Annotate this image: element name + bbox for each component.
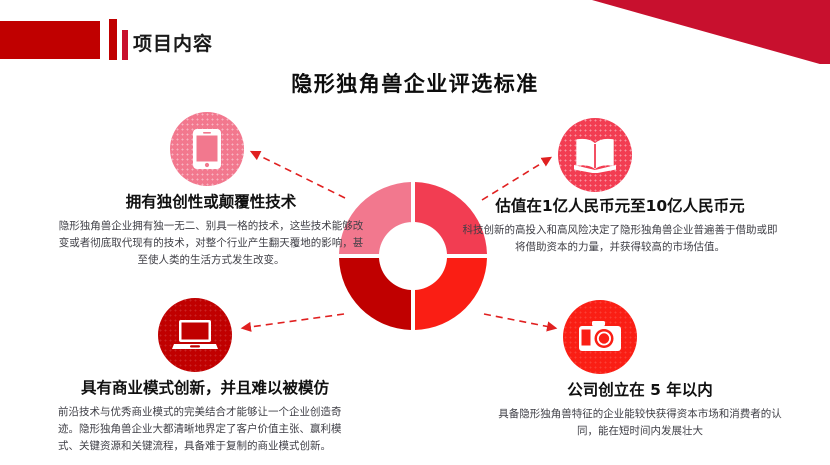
slide: 项目内容 隐形独角兽企业评选标准 <box>0 0 830 465</box>
header-bar-thin <box>122 30 128 60</box>
feature-block-top-left: 拥有独创性或颠覆性技术 隐形独角兽企业拥有独一无二、别具一格的技术，这些技术能够… <box>58 192 364 269</box>
smartphone-icon <box>170 112 244 186</box>
header-red-block <box>0 21 100 59</box>
feature-block-bottom-left: 具有商业模式创新，并且难以被模仿 前沿技术与优秀商业模式的完美结合才能够让一个企… <box>40 378 370 455</box>
header-bar-thick <box>109 19 117 60</box>
page-title: 隐形独角兽企业评选标准 <box>0 68 830 98</box>
feature-body: 前沿技术与优秀商业模式的完美结合才能够让一个企业创造奇迹。隐形独角兽企业大都清晰… <box>40 404 370 455</box>
feature-heading: 估值在1亿人民币元至10亿人民币元 <box>462 196 778 217</box>
feature-heading: 拥有独创性或颠覆性技术 <box>58 192 364 213</box>
camera-icon <box>563 300 637 374</box>
feature-body: 科技创新的高投入和高风险决定了隐形独角兽企业普遍善于借助或即将借助资本的力量，并… <box>462 222 778 256</box>
feature-block-top-right: 估值在1亿人民币元至10亿人民币元 科技创新的高投入和高风险决定了隐形独角兽企业… <box>462 196 778 256</box>
feature-heading: 公司创立在 5 年以内 <box>490 380 790 401</box>
donut-segment-bottom-right <box>415 256 487 330</box>
feature-heading: 具有商业模式创新，并且难以被模仿 <box>40 378 370 399</box>
laptop-icon <box>158 298 232 372</box>
header-label: 项目内容 <box>133 31 213 57</box>
header-corner-wedge-accent <box>490 0 830 64</box>
book-icon <box>558 118 632 192</box>
feature-body: 具备隐形独角兽特征的企业能较快获得资本市场和消费者的认同，能在短时间内发展壮大 <box>490 406 790 440</box>
feature-body: 隐形独角兽企业拥有独一无二、别具一格的技术，这些技术能够改变或者彻底取代现有的技… <box>58 218 364 269</box>
feature-block-bottom-right: 公司创立在 5 年以内 具备隐形独角兽特征的企业能较快获得资本市场和消费者的认同… <box>490 380 790 440</box>
